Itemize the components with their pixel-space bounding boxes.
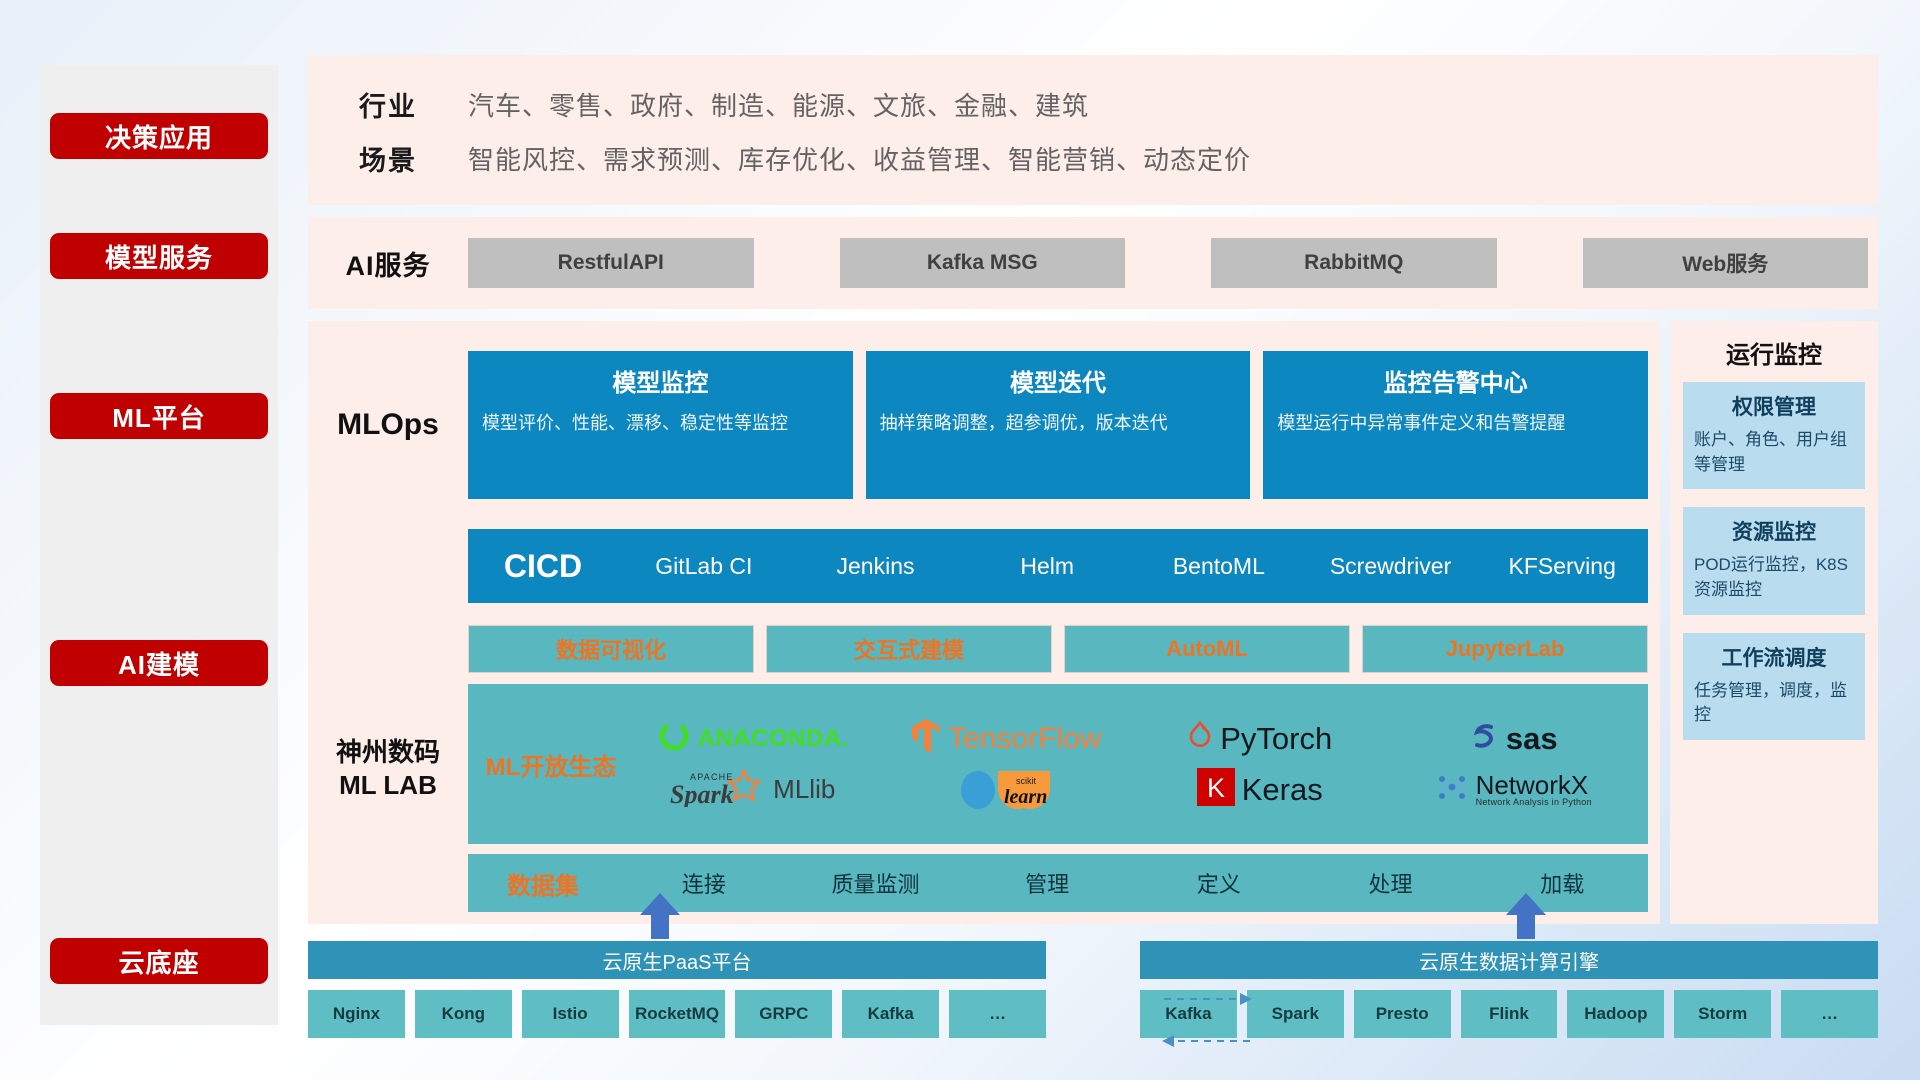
- card-title: 权限管理: [1694, 391, 1854, 421]
- card-title: 监控告警中心: [1277, 363, 1634, 398]
- ml-lab-row: 神州数码 ML LAB 数据可视化 交互式建模 AutoML JupyterLa…: [308, 615, 1660, 924]
- cloud-paas-title: 云原生PaaS平台: [308, 941, 1046, 979]
- logo-anaconda[interactable]: ANACONDA.: [657, 719, 849, 758]
- cicd-item-gitlab-ci[interactable]: GitLab CI: [618, 553, 790, 579]
- cicd-item-screwdriver[interactable]: Screwdriver: [1305, 553, 1477, 579]
- networkx-label: NetworkX: [1476, 772, 1592, 798]
- diagram-canvas: 决策应用 模型服务 ML平台 AI建模 云底座 行业 汽车、零售、政府、制造、能…: [0, 0, 1920, 1080]
- monitor-card-permission[interactable]: 权限管理 账户、角色、用户组等管理: [1683, 382, 1865, 489]
- ml-ecosystem-label: ML开放生态: [476, 747, 626, 782]
- ml-platform-row: MLOps 模型监控 模型评价、性能、漂移、稳定性等监控 模型迭代 抽样策略调整…: [308, 321, 1878, 924]
- cloud-base-section: 云原生PaaS平台 Nginx Kong Istio RocketMQ GRPC…: [308, 893, 1878, 1043]
- monitor-card-resource[interactable]: 资源监控 POD运行监控，K8S资源监控: [1683, 507, 1865, 614]
- card-desc: 模型运行中异常事件定义和告警提醒: [1277, 410, 1634, 436]
- cloud-chip-kafka[interactable]: Kafka: [842, 990, 939, 1038]
- lab-tab-interactive-modeling[interactable]: 交互式建模: [766, 625, 1052, 673]
- band-divider: [308, 205, 1878, 217]
- ai-service-label: AI服务: [308, 244, 468, 283]
- cloud-chip-hadoop[interactable]: Hadoop: [1567, 990, 1664, 1038]
- rail-tag-ml-platform[interactable]: ML平台: [50, 393, 268, 439]
- card-title: 模型监控: [482, 363, 839, 398]
- ml-lab-label-line1: 神州数码: [308, 736, 468, 769]
- tensorflow-label: TensorFlow: [948, 722, 1101, 756]
- cloud-chip-more-right[interactable]: …: [1781, 990, 1878, 1038]
- ml-lab-content: 数据可视化 交互式建模 AutoML JupyterLab ML开放生态: [468, 625, 1660, 912]
- rail-tag-model-service[interactable]: 模型服务: [50, 233, 268, 279]
- card-title: 工作流调度: [1694, 642, 1854, 672]
- arrow-up-data-engine-icon: [1504, 893, 1548, 939]
- decision-app-band: 行业 汽车、零售、政府、制造、能源、文旅、金融、建筑 场景 智能风控、需求预测、…: [308, 55, 1878, 205]
- ml-ecosystem-panel: ML开放生态 ANACONDA.: [468, 684, 1648, 844]
- cloud-chip-rocketmq[interactable]: RocketMQ: [629, 990, 726, 1038]
- cloud-chip-presto[interactable]: Presto: [1354, 990, 1451, 1038]
- mlops-label: MLOps: [308, 408, 468, 442]
- industry-row: 行业 汽车、零售、政府、制造、能源、文旅、金融、建筑: [308, 77, 1878, 131]
- cicd-item-bentoml[interactable]: BentoML: [1133, 553, 1305, 579]
- networkx-tagline: Network Analysis in Python: [1476, 798, 1592, 807]
- pytorch-icon: [1187, 720, 1213, 757]
- ai-service-chip-group: RestfulAPI Kafka MSG RabbitMQ Web服务: [468, 238, 1878, 288]
- monitor-card-workflow[interactable]: 工作流调度 任务管理，调度，监控: [1683, 633, 1865, 740]
- anaconda-label: ANACONDA.: [698, 725, 849, 753]
- cicd-item-group: GitLab CI Jenkins Helm BentoML Screwdriv…: [618, 553, 1648, 579]
- cloud-chip-istio[interactable]: Istio: [522, 990, 619, 1038]
- scenario-label: 场景: [308, 139, 468, 178]
- svg-text:scikit: scikit: [1016, 776, 1036, 786]
- mlops-card-alert-center[interactable]: 监控告警中心 模型运行中异常事件定义和告警提醒: [1263, 351, 1648, 499]
- cicd-item-kfserving[interactable]: KFServing: [1476, 553, 1648, 579]
- logo-tensorflow[interactable]: TensorFlow: [911, 718, 1101, 759]
- svg-text:K: K: [1207, 773, 1225, 803]
- runtime-monitor-title: 运行监控: [1670, 321, 1878, 382]
- scikit-learn-word: learn: [1004, 786, 1047, 808]
- cloud-chip-nginx[interactable]: Nginx: [308, 990, 405, 1038]
- card-desc: 任务管理，调度，监控: [1694, 679, 1854, 728]
- logo-spark-mllib[interactable]: APACHE Spark MLlib: [670, 767, 835, 812]
- ml-lab-label-line2: ML LAB: [308, 769, 468, 802]
- cloud-column-paas: 云原生PaaS平台 Nginx Kong Istio RocketMQ GRPC…: [308, 941, 1046, 1038]
- layer-rail: [40, 65, 278, 1025]
- cloud-chip-kong[interactable]: Kong: [415, 990, 512, 1038]
- mlops-cards-row: MLOps 模型监控 模型评价、性能、漂移、稳定性等监控 模型迭代 抽样策略调整…: [308, 321, 1660, 529]
- logo-networkx[interactable]: NetworkX Network Analysis in Python: [1435, 770, 1592, 809]
- industry-label: 行业: [308, 85, 468, 124]
- cloud-chip-storm[interactable]: Storm: [1674, 990, 1771, 1038]
- card-title: 资源监控: [1694, 516, 1854, 546]
- lab-tab-jupyterlab[interactable]: JupyterLab: [1362, 625, 1648, 673]
- tensorflow-icon: [911, 718, 941, 759]
- bidirectional-link-arrows: [1160, 989, 1254, 1055]
- keras-label: Keras: [1242, 772, 1323, 808]
- arrow-up-paas-icon: [638, 893, 682, 939]
- card-desc: POD运行监控，K8S资源监控: [1694, 553, 1854, 602]
- mlops-band: MLOps 模型监控 模型评价、性能、漂移、稳定性等监控 模型迭代 抽样策略调整…: [308, 321, 1660, 924]
- service-chip-restfulapi[interactable]: RestfulAPI: [468, 238, 754, 288]
- scenario-values: 智能风控、需求预测、库存优化、收益管理、智能营销、动态定价: [468, 140, 1251, 177]
- runtime-monitor-panel: 运行监控 权限管理 账户、角色、用户组等管理 资源监控 POD运行监控，K8S资…: [1670, 321, 1878, 924]
- cloud-bars: 云原生PaaS平台 Nginx Kong Istio RocketMQ GRPC…: [308, 941, 1878, 1038]
- cloud-chip-flink[interactable]: Flink: [1461, 990, 1558, 1038]
- logo-sas[interactable]: sas: [1469, 720, 1558, 757]
- logo-scikit-learn[interactable]: scikit learn: [954, 764, 1058, 815]
- mllib-label: MLlib: [773, 774, 835, 805]
- svg-text:Spark: Spark: [670, 780, 734, 807]
- pytorch-label: PyTorch: [1220, 721, 1332, 757]
- industry-values: 汽车、零售、政府、制造、能源、文旅、金融、建筑: [468, 86, 1089, 123]
- cloud-chip-more-left[interactable]: …: [949, 990, 1046, 1038]
- main-column: 行业 汽车、零售、政府、制造、能源、文旅、金融、建筑 场景 智能风控、需求预测、…: [308, 55, 1878, 924]
- mlops-card-model-iteration[interactable]: 模型迭代 抽样策略调整，超参调优，版本迭代: [866, 351, 1251, 499]
- networkx-icon: [1435, 770, 1469, 809]
- rail-tag-decision-app[interactable]: 决策应用: [50, 113, 268, 159]
- cicd-item-jenkins[interactable]: Jenkins: [790, 553, 962, 579]
- sas-label: sas: [1506, 721, 1558, 757]
- spark-icon: APACHE Spark: [670, 767, 766, 812]
- service-chip-rabbitmq[interactable]: RabbitMQ: [1211, 238, 1497, 288]
- mlops-card-model-monitoring[interactable]: 模型监控 模型评价、性能、漂移、稳定性等监控: [468, 351, 853, 499]
- card-desc: 抽样策略调整，超参调优，版本迭代: [880, 410, 1237, 436]
- sas-icon: [1469, 720, 1499, 757]
- rail-tag-cloud-base[interactable]: 云底座: [50, 938, 268, 984]
- service-chip-web[interactable]: Web服务: [1583, 238, 1869, 288]
- cloud-data-engine-title: 云原生数据计算引擎: [1140, 941, 1878, 979]
- mlops-card-group: 模型监控 模型评价、性能、漂移、稳定性等监控 模型迭代 抽样策略调整，超参调优，…: [468, 351, 1660, 499]
- card-desc: 账户、角色、用户组等管理: [1694, 428, 1854, 477]
- anaconda-icon: [657, 719, 691, 758]
- logo-keras[interactable]: K Keras: [1197, 768, 1323, 811]
- service-chip-kafka-msg[interactable]: Kafka MSG: [840, 238, 1126, 288]
- band-divider-2: [308, 309, 1878, 321]
- scikit-learn-icon: scikit learn: [954, 764, 1058, 815]
- ml-logo-grid: ANACONDA.: [626, 713, 1640, 815]
- band-divider-3: [308, 603, 1660, 615]
- cicd-bar: CICD GitLab CI Jenkins Helm BentoML Scre…: [468, 529, 1648, 603]
- lab-tab-automl[interactable]: AutoML: [1064, 625, 1350, 673]
- card-desc: 模型评价、性能、漂移、稳定性等监控: [482, 410, 839, 436]
- ml-lab-label: 神州数码 ML LAB: [308, 736, 468, 801]
- ai-service-band: AI服务 RestfulAPI Kafka MSG RabbitMQ Web服务: [308, 217, 1878, 309]
- cloud-chip-spark[interactable]: Spark: [1247, 990, 1344, 1038]
- scenario-row: 场景 智能风控、需求预测、库存优化、收益管理、智能营销、动态定价: [308, 131, 1878, 185]
- rail-tag-ai-modeling[interactable]: AI建模: [50, 640, 268, 686]
- cicd-item-helm[interactable]: Helm: [961, 553, 1133, 579]
- keras-icon: K: [1197, 768, 1235, 811]
- logo-pytorch[interactable]: PyTorch: [1187, 720, 1332, 757]
- card-title: 模型迭代: [880, 363, 1237, 398]
- ml-lab-band: 神州数码 ML LAB 数据可视化 交互式建模 AutoML JupyterLa…: [308, 615, 1660, 924]
- cloud-chip-grpc[interactable]: GRPC: [735, 990, 832, 1038]
- cicd-title: CICD: [468, 548, 618, 585]
- ml-lab-tab-group: 数据可视化 交互式建模 AutoML JupyterLab: [468, 625, 1648, 673]
- lab-tab-data-visualization[interactable]: 数据可视化: [468, 625, 754, 673]
- cloud-paas-chip-group: Nginx Kong Istio RocketMQ GRPC Kafka …: [308, 990, 1046, 1038]
